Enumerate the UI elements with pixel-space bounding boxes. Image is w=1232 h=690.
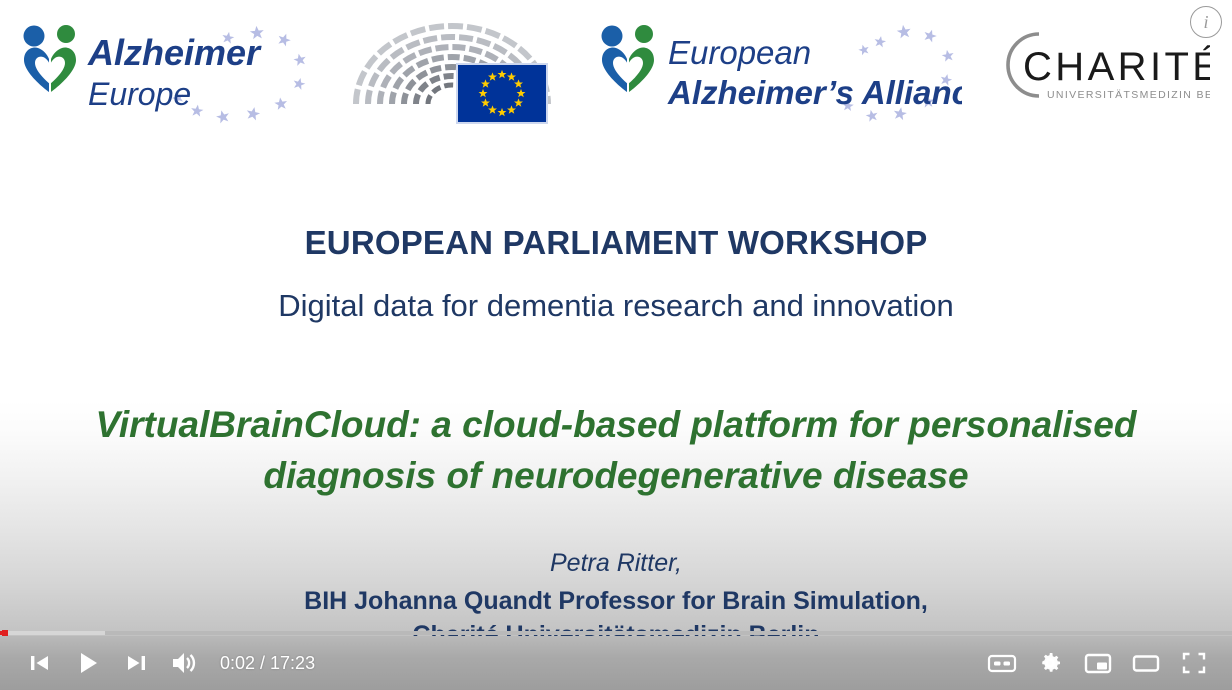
european-alzheimers-alliance-logo: European Alzheimer’s Alliance	[592, 14, 962, 134]
eu-flag	[456, 63, 548, 124]
theater-button[interactable]	[1122, 636, 1170, 690]
logo-row: Alzheimer Europe	[0, 0, 1232, 145]
alzheimer-europe-wordmark-line2: Europe	[88, 76, 191, 112]
speaker-role-line-1: BIH Johanna Quandt Professor for Brain S…	[0, 584, 1232, 618]
progress-bar[interactable]	[0, 629, 1232, 636]
alzheimer-europe-mark	[24, 25, 77, 92]
next-icon	[123, 650, 149, 676]
gear-icon	[1037, 650, 1063, 676]
miniplayer-icon	[1084, 652, 1112, 674]
miniplayer-button[interactable]	[1074, 636, 1122, 690]
slide-headline: VirtualBrainCloud: a cloud-based platfor…	[0, 399, 1232, 501]
charite-wordmark: CHARITÉ	[1023, 44, 1210, 89]
alzheimer-europe-logo: Alzheimer Europe	[16, 18, 316, 130]
progress-scrubber-handle[interactable]	[2, 630, 8, 636]
alzheimer-europe-wordmark-line1: Alzheimer	[87, 32, 262, 73]
volume-icon	[169, 649, 199, 677]
next-button[interactable]	[112, 636, 160, 690]
speaker-name: Petra Ritter,	[0, 549, 1232, 578]
charite-logo: CHARITÉ UNIVERSITÄTSMEDIZIN BERLIN	[995, 26, 1210, 108]
european-parliament-logo	[352, 18, 552, 128]
player-controls-right	[978, 636, 1218, 690]
fullscreen-icon	[1181, 651, 1207, 675]
info-icon[interactable]: i	[1190, 6, 1222, 38]
fullscreen-button[interactable]	[1170, 636, 1218, 690]
play-button[interactable]	[64, 636, 112, 690]
alzheimers-alliance-mark	[602, 25, 655, 92]
play-icon	[74, 649, 102, 677]
settings-button[interactable]	[1026, 636, 1074, 690]
alliance-wordmark-line1: European	[668, 34, 811, 71]
player-controls: 0:02 / 17:23	[0, 636, 1232, 690]
theater-mode-icon	[1132, 652, 1160, 674]
alliance-wordmark-line2: Alzheimer’s Alliance	[667, 74, 962, 111]
video-player: Alzheimer Europe	[0, 0, 1232, 690]
progress-loaded	[0, 631, 105, 635]
closed-captions-icon	[987, 652, 1017, 674]
previous-button[interactable]	[16, 636, 64, 690]
previous-icon	[27, 650, 53, 676]
slide-title-sub: Digital data for dementia research and i…	[0, 288, 1232, 324]
mute-button[interactable]	[160, 636, 208, 690]
progress-track	[0, 631, 1232, 635]
charite-subline: UNIVERSITÄTSMEDIZIN BERLIN	[1047, 89, 1210, 101]
player-controls-left: 0:02 / 17:23	[16, 636, 315, 690]
subtitles-button[interactable]	[978, 636, 1026, 690]
time-display: 0:02 / 17:23	[220, 653, 315, 674]
slide-title-main: EUROPEAN PARLIAMENT WORKSHOP	[0, 224, 1232, 262]
slide-content: Alzheimer Europe	[0, 0, 1232, 690]
